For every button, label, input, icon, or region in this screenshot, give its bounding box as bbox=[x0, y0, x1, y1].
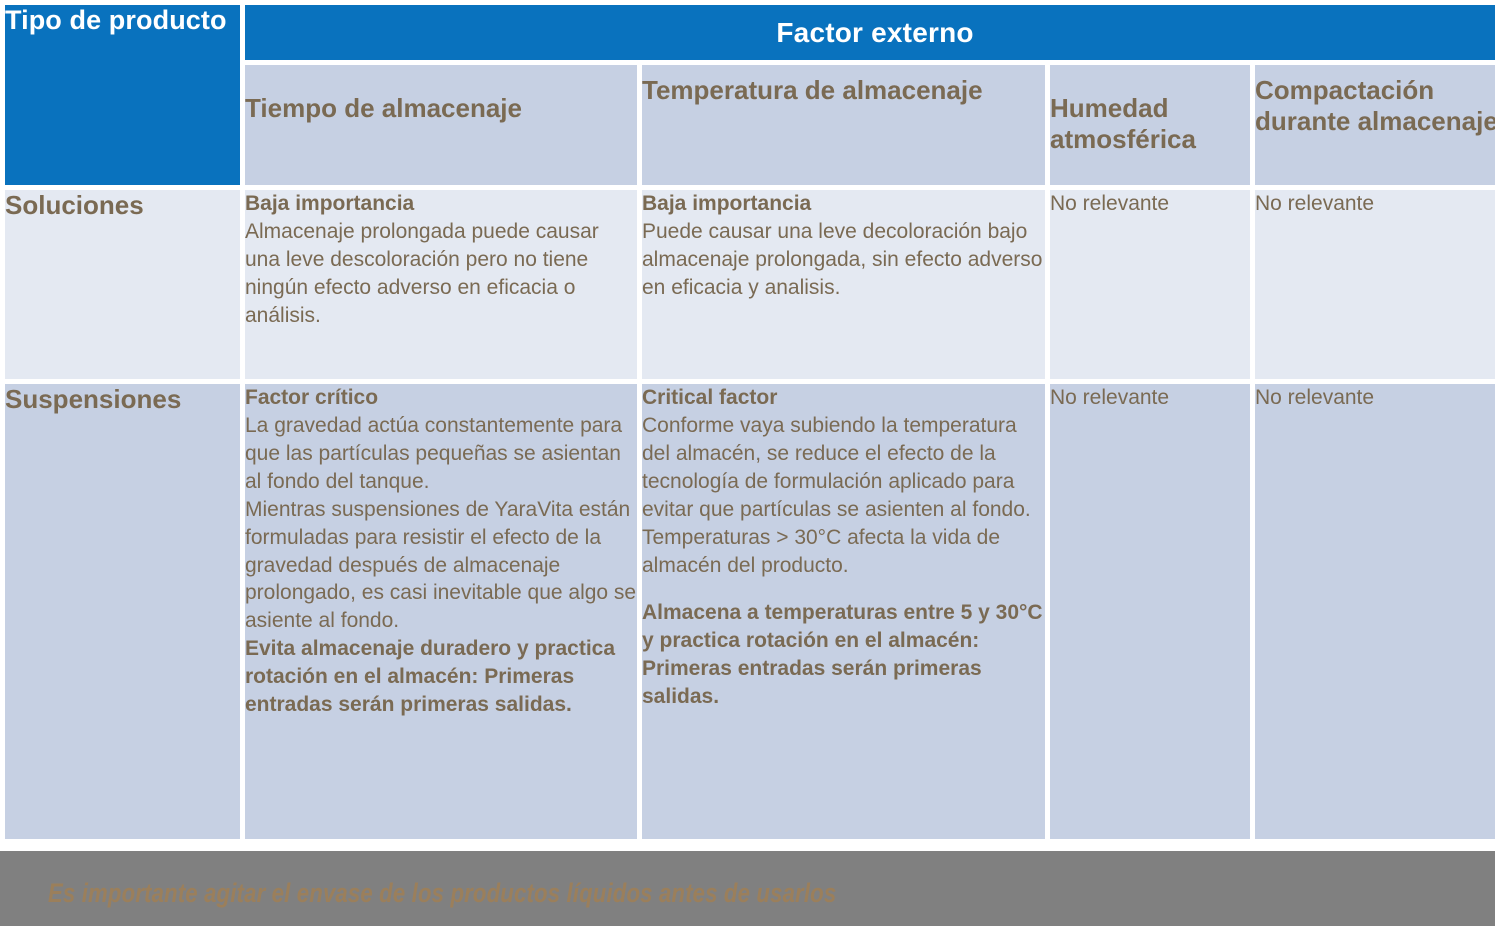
column-header-temperatura-de-almacenaje: Temperatura de almacenaje bbox=[642, 65, 1045, 185]
cell-heading: Critical factor bbox=[642, 384, 1045, 412]
column-header-humedad-atmosferica: Humedad atmosférica bbox=[1050, 65, 1250, 185]
cell-body: Almacenaje prolongada puede causar una l… bbox=[245, 218, 637, 330]
cell-body: No relevante bbox=[1255, 384, 1495, 412]
cell-emphasis: Evita almacenaje duradero y practica rot… bbox=[245, 635, 637, 719]
cell-soluciones-tiempo: Baja importancia Almacenaje prolongada p… bbox=[245, 190, 637, 379]
cell-suspensiones-compactacion: No relevante bbox=[1255, 384, 1495, 839]
cell-soluciones-humedad: No relevante bbox=[1050, 190, 1250, 379]
cell-body: No relevante bbox=[1050, 384, 1250, 412]
column-header-compactacion-durante-almacenaje: Compactación durante almacenaje bbox=[1255, 65, 1495, 185]
group-header-factor-externo: Factor externo bbox=[245, 5, 1495, 60]
cell-heading: Baja importancia bbox=[245, 190, 637, 218]
row-label-suspensiones: Suspensiones bbox=[5, 384, 240, 839]
table-group-header-row: Tipo de producto Factor externo bbox=[5, 5, 1495, 60]
cell-body: Puede causar una leve decoloración bajo … bbox=[642, 218, 1045, 302]
storage-factors-table: Tipo de producto Factor externo Tiempo d… bbox=[0, 0, 1495, 844]
cell-suspensiones-temperatura: Critical factor Conforme vaya subiendo l… bbox=[642, 384, 1045, 839]
corner-header-tipo-de-producto: Tipo de producto bbox=[5, 5, 240, 185]
cell-gap bbox=[642, 579, 1045, 599]
cell-soluciones-compactacion: No relevante bbox=[1255, 190, 1495, 379]
column-header-tiempo-de-almacenaje: Tiempo de almacenaje bbox=[245, 65, 637, 185]
cell-suspensiones-tiempo: Factor crítico La gravedad actúa constan… bbox=[245, 384, 637, 839]
slide-canvas: Tipo de producto Factor externo Tiempo d… bbox=[0, 0, 1495, 926]
cell-emphasis: Almacena a temperaturas entre 5 y 30°C y… bbox=[642, 599, 1045, 711]
row-label-soluciones: Soluciones bbox=[5, 190, 240, 379]
cell-body: No relevante bbox=[1255, 190, 1495, 218]
cell-body: La gravedad actúa constantemente para qu… bbox=[245, 412, 637, 635]
cell-heading: Baja importancia bbox=[642, 190, 1045, 218]
table-row: Soluciones Baja importancia Almacenaje p… bbox=[5, 190, 1495, 379]
cell-body: No relevante bbox=[1050, 190, 1250, 218]
cell-suspensiones-humedad: No relevante bbox=[1050, 384, 1250, 839]
table-row: Suspensiones Factor crítico La gravedad … bbox=[5, 384, 1495, 839]
cell-soluciones-temperatura: Baja importancia Puede causar una leve d… bbox=[642, 190, 1045, 379]
footer-note: Es importante agitar el envase de los pr… bbox=[48, 878, 836, 909]
cell-heading: Factor crítico bbox=[245, 384, 637, 412]
cell-body: Conforme vaya subiendo la temperatura de… bbox=[642, 412, 1045, 580]
